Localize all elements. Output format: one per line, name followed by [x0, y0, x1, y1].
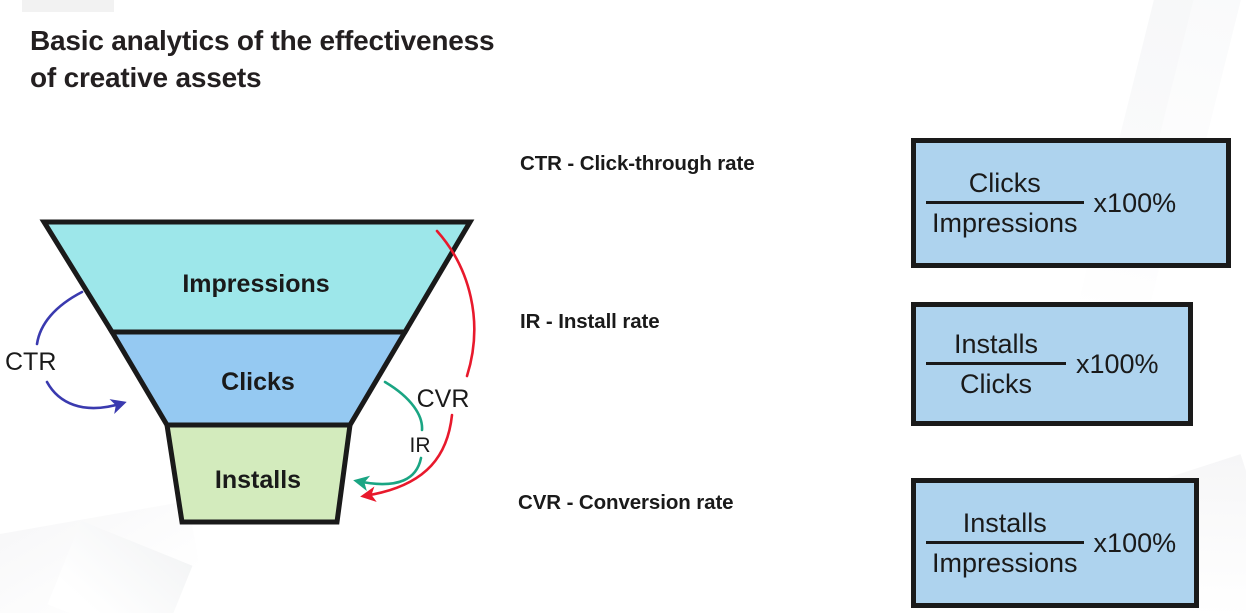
decorative-shape-top-left — [22, 0, 114, 12]
definition-ctr: CTR - Click-through rate — [520, 152, 755, 176]
formula-multiplier: x100% — [1094, 528, 1177, 559]
ctr-arrow-label: CTR — [5, 348, 56, 376]
ctr-arrow-upper-arc — [37, 292, 82, 344]
fraction-denominator: Impressions — [926, 547, 1084, 578]
funnel-diagram: Impressions Clicks Installs CTR CVR IR — [0, 190, 530, 550]
fraction-ir: Installs Clicks — [926, 329, 1066, 399]
slide-canvas: Basic analytics of the effectiveness of … — [0, 0, 1246, 613]
fraction-denominator: Clicks — [954, 368, 1038, 399]
definition-ir: IR - Install rate — [520, 310, 660, 334]
formula-multiplier: x100% — [1094, 188, 1177, 219]
fraction-bar — [926, 541, 1084, 544]
definition-cvr: CVR - Conversion rate — [518, 491, 733, 515]
ir-arrow-label: IR — [410, 434, 431, 457]
formula-box-ctr[interactable]: Clicks Impressions x100% — [911, 138, 1231, 268]
fraction-numerator: Installs — [944, 329, 1048, 360]
funnel-label-impressions: Impressions — [182, 270, 329, 298]
fraction-bar — [926, 362, 1066, 365]
funnel-label-installs: Installs — [215, 466, 301, 494]
fraction-denominator: Impressions — [926, 207, 1084, 238]
fraction-bar — [926, 201, 1084, 204]
fraction-cvr: Installs Impressions — [926, 508, 1084, 578]
fraction-numerator: Installs — [953, 508, 1057, 539]
formula-box-ir[interactable]: Installs Clicks x100% — [911, 302, 1193, 426]
page-title: Basic analytics of the effectiveness of … — [30, 22, 730, 96]
fraction-numerator: Clicks — [959, 168, 1051, 199]
funnel-label-clicks: Clicks — [221, 368, 295, 396]
formula-box-cvr[interactable]: Installs Impressions x100% — [911, 478, 1199, 608]
fraction-ctr: Clicks Impressions — [926, 168, 1084, 238]
formula-multiplier: x100% — [1076, 349, 1159, 380]
cvr-arrow-label: CVR — [417, 385, 470, 413]
ctr-arrow-lower-arc — [47, 382, 123, 408]
